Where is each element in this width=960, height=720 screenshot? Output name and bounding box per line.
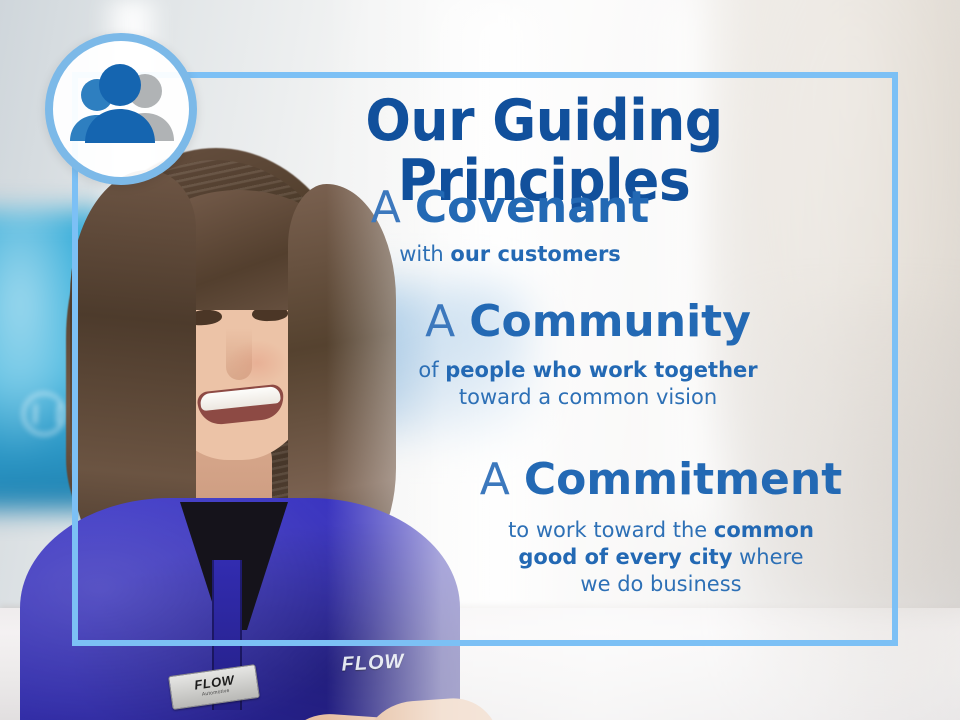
people-group-icon <box>53 41 189 177</box>
principle-subtext-commitment: to work toward the commongood of every c… <box>436 517 886 599</box>
people-badge-circle <box>45 33 197 185</box>
principle-heading-covenant: A Covenant <box>330 186 690 231</box>
principle-heading-commitment: A Commitment <box>436 458 886 503</box>
nose <box>226 328 252 380</box>
article-a: A <box>480 454 510 505</box>
principle-block-commitment: A Commitment to work toward the commongo… <box>436 458 886 599</box>
article-a: A <box>425 296 455 347</box>
article-a: A <box>371 182 401 233</box>
flow-chest-logo: FLOW <box>329 648 416 678</box>
principle-word-covenant: Covenant <box>415 182 649 233</box>
principle-word-commitment: Commitment <box>524 454 842 505</box>
principle-block-community: A Community of people who work togethert… <box>378 300 798 411</box>
principle-block-covenant: A Covenant with our customers <box>330 186 690 268</box>
principle-subtext-covenant: with our customers <box>330 241 690 268</box>
principle-heading-community: A Community <box>378 300 798 345</box>
principle-subtext-community: of people who work togethertoward a comm… <box>378 357 798 412</box>
principle-word-community: Community <box>469 296 751 347</box>
guiding-principles-graphic: FLOW FLOW Automotive O <box>0 0 960 720</box>
